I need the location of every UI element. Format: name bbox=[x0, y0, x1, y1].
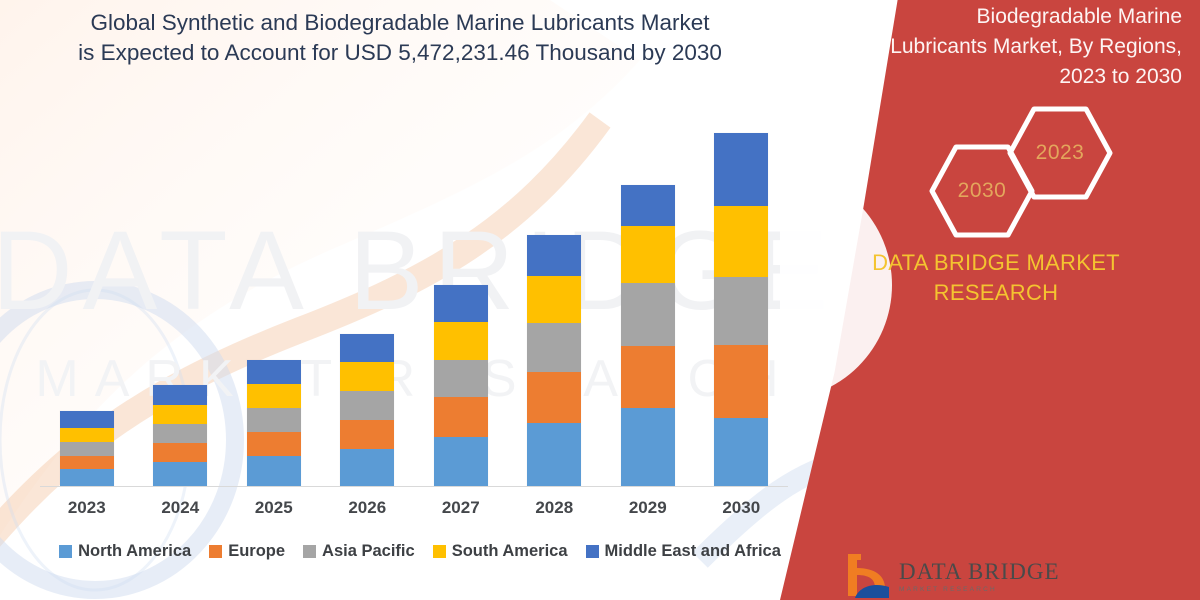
right-red-panel: Biodegradable Marine Lubricants Market, … bbox=[780, 0, 1200, 600]
stacked-bar-2024[interactable] bbox=[153, 385, 207, 486]
bar-segment-2024-asia-pacific[interactable] bbox=[153, 424, 207, 443]
hex-badge-2023: 2023 bbox=[1006, 105, 1114, 201]
x-axis-label-2023: 2023 bbox=[41, 494, 133, 522]
logo-subtext: MARKET RESEARCH bbox=[899, 586, 1060, 593]
bar-segment-2023-north-america[interactable] bbox=[60, 469, 114, 486]
x-axis-label-2024: 2024 bbox=[134, 494, 226, 522]
bar-segment-2023-south-america[interactable] bbox=[60, 428, 114, 442]
chart-title-line-2: is Expected to Account for USD 5,472,231… bbox=[40, 38, 760, 68]
bar-segment-2027-europe[interactable] bbox=[434, 397, 488, 437]
bar-column-2026 bbox=[321, 86, 413, 486]
hex-label-2023: 2023 bbox=[1036, 141, 1085, 165]
x-axis-label-2028: 2028 bbox=[508, 494, 600, 522]
stacked-bar-2028[interactable] bbox=[527, 235, 581, 486]
hexagon-badges: 2030 2023 bbox=[780, 105, 1200, 215]
bar-column-2028 bbox=[508, 86, 600, 486]
x-axis-label-2030: 2030 bbox=[695, 494, 787, 522]
right-title-line-2: Lubricants Market, By Regions, bbox=[800, 32, 1182, 62]
bar-column-2027 bbox=[415, 86, 507, 486]
bar-segment-2028-asia-pacific[interactable] bbox=[527, 323, 581, 372]
bar-segment-2026-north-america[interactable] bbox=[340, 449, 394, 486]
bar-segment-2024-middle-east-and-africa[interactable] bbox=[153, 385, 207, 405]
legend-item-asia-pacific[interactable]: Asia Pacific bbox=[303, 542, 415, 561]
legend-label: South America bbox=[452, 542, 568, 561]
stacked-bar-2029[interactable] bbox=[621, 185, 675, 486]
bar-segment-2027-south-america[interactable] bbox=[434, 322, 488, 360]
bar-segment-2025-asia-pacific[interactable] bbox=[247, 408, 301, 432]
x-axis-labels: 20232024202520262027202820292030 bbox=[40, 494, 788, 522]
stacked-bar-2030[interactable] bbox=[714, 133, 768, 486]
chart-legend: North AmericaEuropeAsia PacificSouth Ame… bbox=[40, 536, 800, 566]
bar-segment-2029-europe[interactable] bbox=[621, 346, 675, 408]
x-axis-label-2029: 2029 bbox=[602, 494, 694, 522]
bar-segment-2027-middle-east-and-africa[interactable] bbox=[434, 285, 488, 322]
bar-segment-2030-south-america[interactable] bbox=[714, 206, 768, 277]
x-axis-label-2026: 2026 bbox=[321, 494, 413, 522]
right-title-line-1: Biodegradable Marine bbox=[800, 2, 1182, 32]
legend-swatch-icon bbox=[59, 545, 72, 558]
bar-column-2024 bbox=[134, 86, 226, 486]
bar-column-2023 bbox=[41, 86, 133, 486]
bar-segment-2027-north-america[interactable] bbox=[434, 437, 488, 486]
legend-label: Middle East and Africa bbox=[605, 542, 781, 561]
bar-segment-2028-europe[interactable] bbox=[527, 372, 581, 423]
right-title-line-3: 2023 to 2030 bbox=[800, 62, 1182, 92]
legend-label: Europe bbox=[228, 542, 285, 561]
legend-item-south-america[interactable]: South America bbox=[433, 542, 568, 561]
bar-group bbox=[40, 86, 788, 486]
bar-segment-2025-middle-east-and-africa[interactable] bbox=[247, 360, 301, 384]
bridge-logo-icon bbox=[845, 554, 891, 598]
bar-segment-2030-middle-east-and-africa[interactable] bbox=[714, 133, 768, 206]
bar-segment-2026-middle-east-and-africa[interactable] bbox=[340, 334, 394, 362]
stacked-bar-2026[interactable] bbox=[340, 334, 394, 486]
bar-segment-2030-europe[interactable] bbox=[714, 345, 768, 418]
brand-line-2: RESEARCH bbox=[800, 278, 1192, 308]
right-panel-title: Biodegradable Marine Lubricants Market, … bbox=[800, 2, 1192, 92]
bar-column-2030 bbox=[695, 86, 787, 486]
hex-label-2030: 2030 bbox=[958, 179, 1007, 203]
company-logo: DATA BRIDGE MARKET RESEARCH bbox=[845, 552, 1105, 600]
chart-panel: Global Synthetic and Biodegradable Marin… bbox=[0, 0, 850, 600]
legend-swatch-icon bbox=[433, 545, 446, 558]
bar-segment-2030-asia-pacific[interactable] bbox=[714, 277, 768, 345]
chart-title-line-1: Global Synthetic and Biodegradable Marin… bbox=[40, 8, 760, 38]
brand-line-1: DATA BRIDGE MARKET bbox=[800, 248, 1192, 278]
bar-segment-2026-europe[interactable] bbox=[340, 420, 394, 449]
bar-segment-2029-middle-east-and-africa[interactable] bbox=[621, 185, 675, 226]
stacked-bar-2025[interactable] bbox=[247, 360, 301, 486]
bar-segment-2023-asia-pacific[interactable] bbox=[60, 442, 114, 456]
brand-text: DATA BRIDGE MARKET RESEARCH bbox=[800, 248, 1192, 308]
x-axis-line bbox=[40, 486, 788, 487]
legend-label: North America bbox=[78, 542, 191, 561]
legend-swatch-icon bbox=[303, 545, 316, 558]
bar-segment-2026-south-america[interactable] bbox=[340, 362, 394, 391]
legend-item-middle-east-and-africa[interactable]: Middle East and Africa bbox=[586, 542, 781, 561]
bar-segment-2026-asia-pacific[interactable] bbox=[340, 391, 394, 420]
bar-segment-2028-south-america[interactable] bbox=[527, 276, 581, 323]
bar-segment-2024-europe[interactable] bbox=[153, 443, 207, 462]
x-axis-label-2025: 2025 bbox=[228, 494, 320, 522]
bar-segment-2025-south-america[interactable] bbox=[247, 384, 301, 408]
bar-segment-2027-asia-pacific[interactable] bbox=[434, 360, 488, 397]
bar-column-2029 bbox=[602, 86, 694, 486]
bar-segment-2030-north-america[interactable] bbox=[714, 418, 768, 486]
bar-segment-2029-asia-pacific[interactable] bbox=[621, 283, 675, 346]
bar-segment-2028-middle-east-and-africa[interactable] bbox=[527, 235, 581, 276]
bar-segment-2025-europe[interactable] bbox=[247, 432, 301, 456]
stacked-bar-2023[interactable] bbox=[60, 411, 114, 486]
legend-label: Asia Pacific bbox=[322, 542, 415, 561]
legend-item-north-america[interactable]: North America bbox=[59, 542, 191, 561]
bar-segment-2029-south-america[interactable] bbox=[621, 226, 675, 283]
bar-segment-2024-south-america[interactable] bbox=[153, 405, 207, 424]
legend-swatch-icon bbox=[209, 545, 222, 558]
bar-column-2025 bbox=[228, 86, 320, 486]
x-axis-label-2027: 2027 bbox=[415, 494, 507, 522]
bar-segment-2023-middle-east-and-africa[interactable] bbox=[60, 411, 114, 428]
bar-segment-2024-north-america[interactable] bbox=[153, 462, 207, 486]
bar-segment-2028-north-america[interactable] bbox=[527, 423, 581, 486]
stacked-bar-2027[interactable] bbox=[434, 285, 488, 486]
logo-text: DATA BRIDGE bbox=[899, 560, 1060, 583]
bar-segment-2023-europe[interactable] bbox=[60, 456, 114, 469]
bar-segment-2029-north-america[interactable] bbox=[621, 408, 675, 486]
chart-title: Global Synthetic and Biodegradable Marin… bbox=[40, 8, 760, 68]
infographic-root: DATA BRIDGE MARKET RESEARCH Global Synth… bbox=[0, 0, 1200, 600]
legend-item-europe[interactable]: Europe bbox=[209, 542, 285, 561]
bar-segment-2025-north-america[interactable] bbox=[247, 456, 301, 486]
legend-swatch-icon bbox=[586, 545, 599, 558]
